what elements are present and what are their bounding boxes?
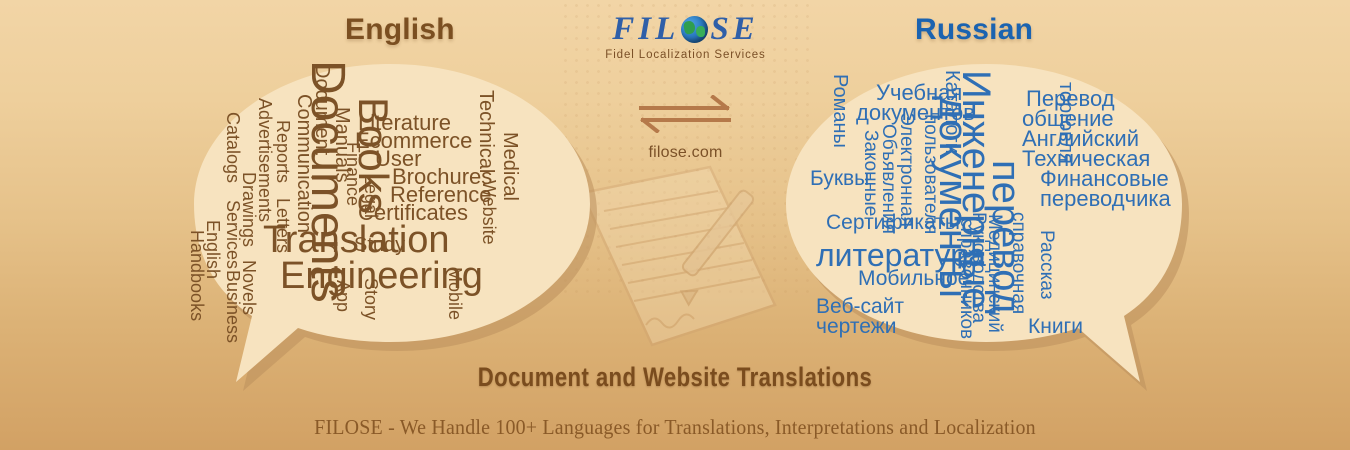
- filose-logo[interactable]: FIL SE Fidel Localization Services: [588, 13, 783, 61]
- cloud-word: чертежи: [816, 318, 896, 336]
- cloud-word: Законные: [862, 130, 878, 216]
- bidirectional-arrows-icon: [635, 95, 735, 133]
- cloud-word: Каталоги: [943, 70, 960, 154]
- russian-heading: Russian: [915, 13, 1033, 47]
- russian-speech-bubble: ИнженерныедокументыпереводлитератураПере…: [778, 52, 1198, 392]
- cloud-word: Mobile: [447, 267, 462, 320]
- cloud-word: Story: [363, 278, 378, 320]
- logo-wordmark: FIL SE: [588, 13, 783, 46]
- cloud-word: Technical: [477, 90, 494, 173]
- cloud-word: Электронная: [898, 112, 914, 227]
- logo-text-part1: FIL: [612, 13, 679, 46]
- cloud-word: Catalogs: [225, 112, 240, 183]
- translation-banner: DocumentsBooksTranslationEngineeringDocu…: [0, 0, 1350, 450]
- cloud-word: Business: [225, 270, 240, 343]
- cloud-word: Мобильное: [858, 270, 969, 288]
- main-caption: Document and Website Translations: [122, 362, 1229, 393]
- english-word-cloud: DocumentsBooksTranslationEngineeringDocu…: [178, 52, 598, 392]
- cloud-word: Study: [354, 237, 405, 254]
- globe-icon: [681, 16, 708, 43]
- website-url[interactable]: filose.com: [588, 144, 783, 162]
- cloud-word: Finance: [345, 142, 360, 206]
- english-heading: English: [345, 13, 455, 47]
- cloud-word: Объявления: [880, 124, 896, 234]
- cloud-word: пользователя: [922, 114, 938, 234]
- cloud-word: Medical: [501, 132, 518, 201]
- cloud-word: Романы: [831, 74, 848, 148]
- cloud-word: Рассказ: [1038, 230, 1054, 299]
- cloud-word: переводчика: [1040, 190, 1171, 209]
- cloud-word: Веб-сайт: [816, 298, 904, 316]
- cloud-word: торговля: [1057, 82, 1074, 164]
- logo-tagline: Fidel Localization Services: [588, 49, 783, 61]
- russian-word-cloud: ИнженерныедокументыпереводлитератураПере…: [778, 52, 1198, 392]
- cloud-word: Letters: [275, 198, 290, 253]
- cloud-word: Document: [313, 64, 330, 155]
- cloud-word: Communication: [295, 94, 312, 233]
- cloud-word: справочников: [958, 218, 974, 339]
- cloud-word: Services: [225, 200, 240, 269]
- cloud-word: Книги: [1028, 318, 1083, 336]
- english-speech-bubble: DocumentsBooksTranslationEngineeringDocu…: [178, 52, 598, 392]
- cloud-word: Медицинский: [986, 214, 1002, 333]
- cloud-word: Reports: [275, 120, 290, 183]
- cloud-word: справочная: [1010, 212, 1026, 314]
- logo-text-part2: SE: [710, 13, 758, 46]
- cloud-word: Website: [481, 180, 496, 245]
- sub-caption: FILOSE - We Handle 100+ Languages for Tr…: [34, 415, 1317, 440]
- cloud-word: App: [335, 280, 350, 312]
- cloud-word: Handbooks: [189, 230, 204, 321]
- cloud-word: Legal: [363, 174, 378, 218]
